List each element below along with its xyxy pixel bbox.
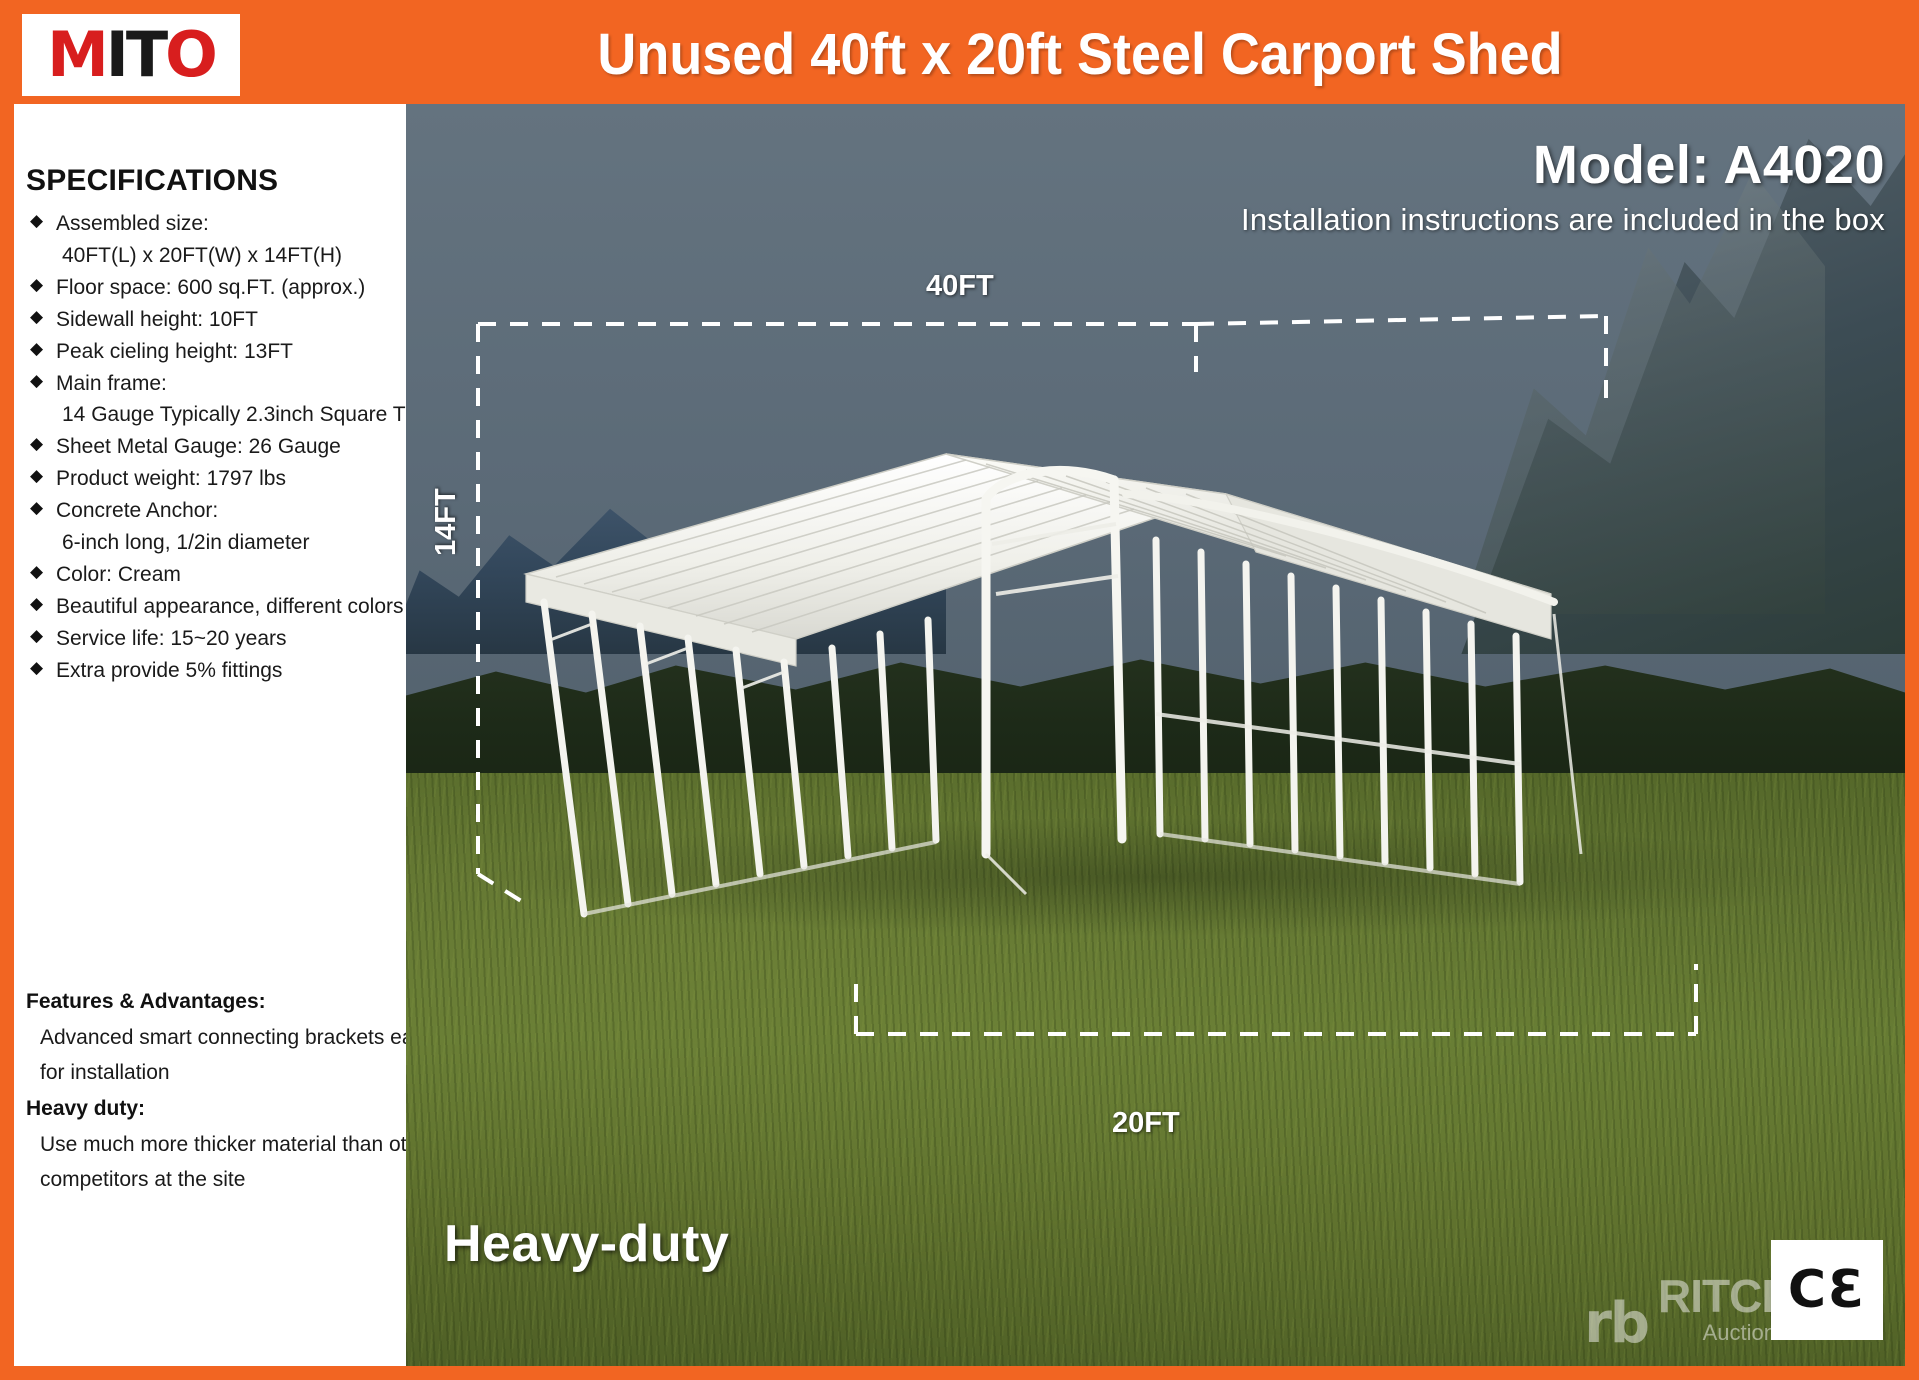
page-title: Unused 40ft x 20ft Steel Carport Shed xyxy=(308,8,1852,100)
poster-header: MITO Unused 40ft x 20ft Steel Carport Sh… xyxy=(0,0,1919,108)
product-spec-poster: MITO Unused 40ft x 20ft Steel Carport Sh… xyxy=(0,0,1919,1380)
spec-item: Beautiful appearance, different colors xyxy=(26,591,446,623)
spec-item: Sidewall height: 10FT xyxy=(26,304,446,336)
specifications-list: Assembled size: 40FT(L) x 20FT(W) x 14FT… xyxy=(26,208,446,687)
spec-item: Service life: 15~20 years xyxy=(26,623,446,655)
logo-letter-it: IT xyxy=(106,18,165,91)
features-block: Features & Advantages: Advanced smart co… xyxy=(26,984,456,1198)
spec-item: Color: Cream xyxy=(26,559,446,591)
features-line-4: competitors at the site xyxy=(26,1162,456,1198)
product-photo: Model: A4020 Installation instructions a… xyxy=(406,104,1905,1366)
features-line-1: Advanced smart connecting brackets easy xyxy=(26,1020,456,1056)
logo-letter-o: O xyxy=(165,18,215,91)
features-line-2: for installation xyxy=(26,1055,456,1091)
spec-item: Main frame: xyxy=(26,368,446,400)
spec-item-continuation: 14 Gauge Typically 2.3inch Square Tube xyxy=(26,399,446,431)
specifications-content: SPECIFICATIONS Assembled size: 40FT(L) x… xyxy=(26,164,446,687)
dimension-height-label: 14FT xyxy=(430,488,463,556)
features-heading: Features & Advantages: xyxy=(26,984,456,1020)
spec-item: Peak cieling height: 13FT xyxy=(26,336,446,368)
spec-item: Sheet Metal Gauge: 26 Gauge xyxy=(26,431,446,463)
spec-item-continuation: 6-inch long, 1/2in diameter xyxy=(26,527,446,559)
specifications-heading: SPECIFICATIONS xyxy=(26,164,446,198)
spec-item: Assembled size: xyxy=(26,208,446,240)
spec-item: Extra provide 5% fittings xyxy=(26,655,446,687)
features-subheading: Heavy duty: xyxy=(26,1091,456,1127)
spec-item-continuation: 40FT(L) x 20FT(W) x 14FT(H) xyxy=(26,240,446,272)
ce-mark-badge: CƐ xyxy=(1771,1240,1883,1340)
ritchie-rb-mark: rb xyxy=(1584,1300,1648,1348)
dimension-length-label: 40FT xyxy=(926,270,994,303)
model-label: Model: A4020 xyxy=(1533,134,1885,196)
features-line-3: Use much more thicker material than othe… xyxy=(26,1127,456,1163)
installation-note: Installation instructions are included i… xyxy=(1241,202,1885,238)
specifications-panel: SPECIFICATIONS Assembled size: 40FT(L) x… xyxy=(14,104,406,1366)
dimension-guides xyxy=(406,104,1905,1366)
poster-body: SPECIFICATIONS Assembled size: 40FT(L) x… xyxy=(14,104,1905,1366)
logo-letter-m: M xyxy=(47,18,106,91)
spec-item: Concrete Anchor: xyxy=(26,495,446,527)
heavy-duty-label: Heavy-duty xyxy=(444,1214,729,1274)
ce-mark-text: CƐ xyxy=(1788,1260,1866,1320)
spec-item: Floor space: 600 sq.FT. (approx.) xyxy=(26,272,446,304)
dimension-width-label: 20FT xyxy=(1112,1107,1180,1140)
mito-logo: MITO xyxy=(22,14,240,96)
spec-item: Product weight: 1797 lbs xyxy=(26,463,446,495)
logo-wordmark: MITO xyxy=(47,24,215,86)
